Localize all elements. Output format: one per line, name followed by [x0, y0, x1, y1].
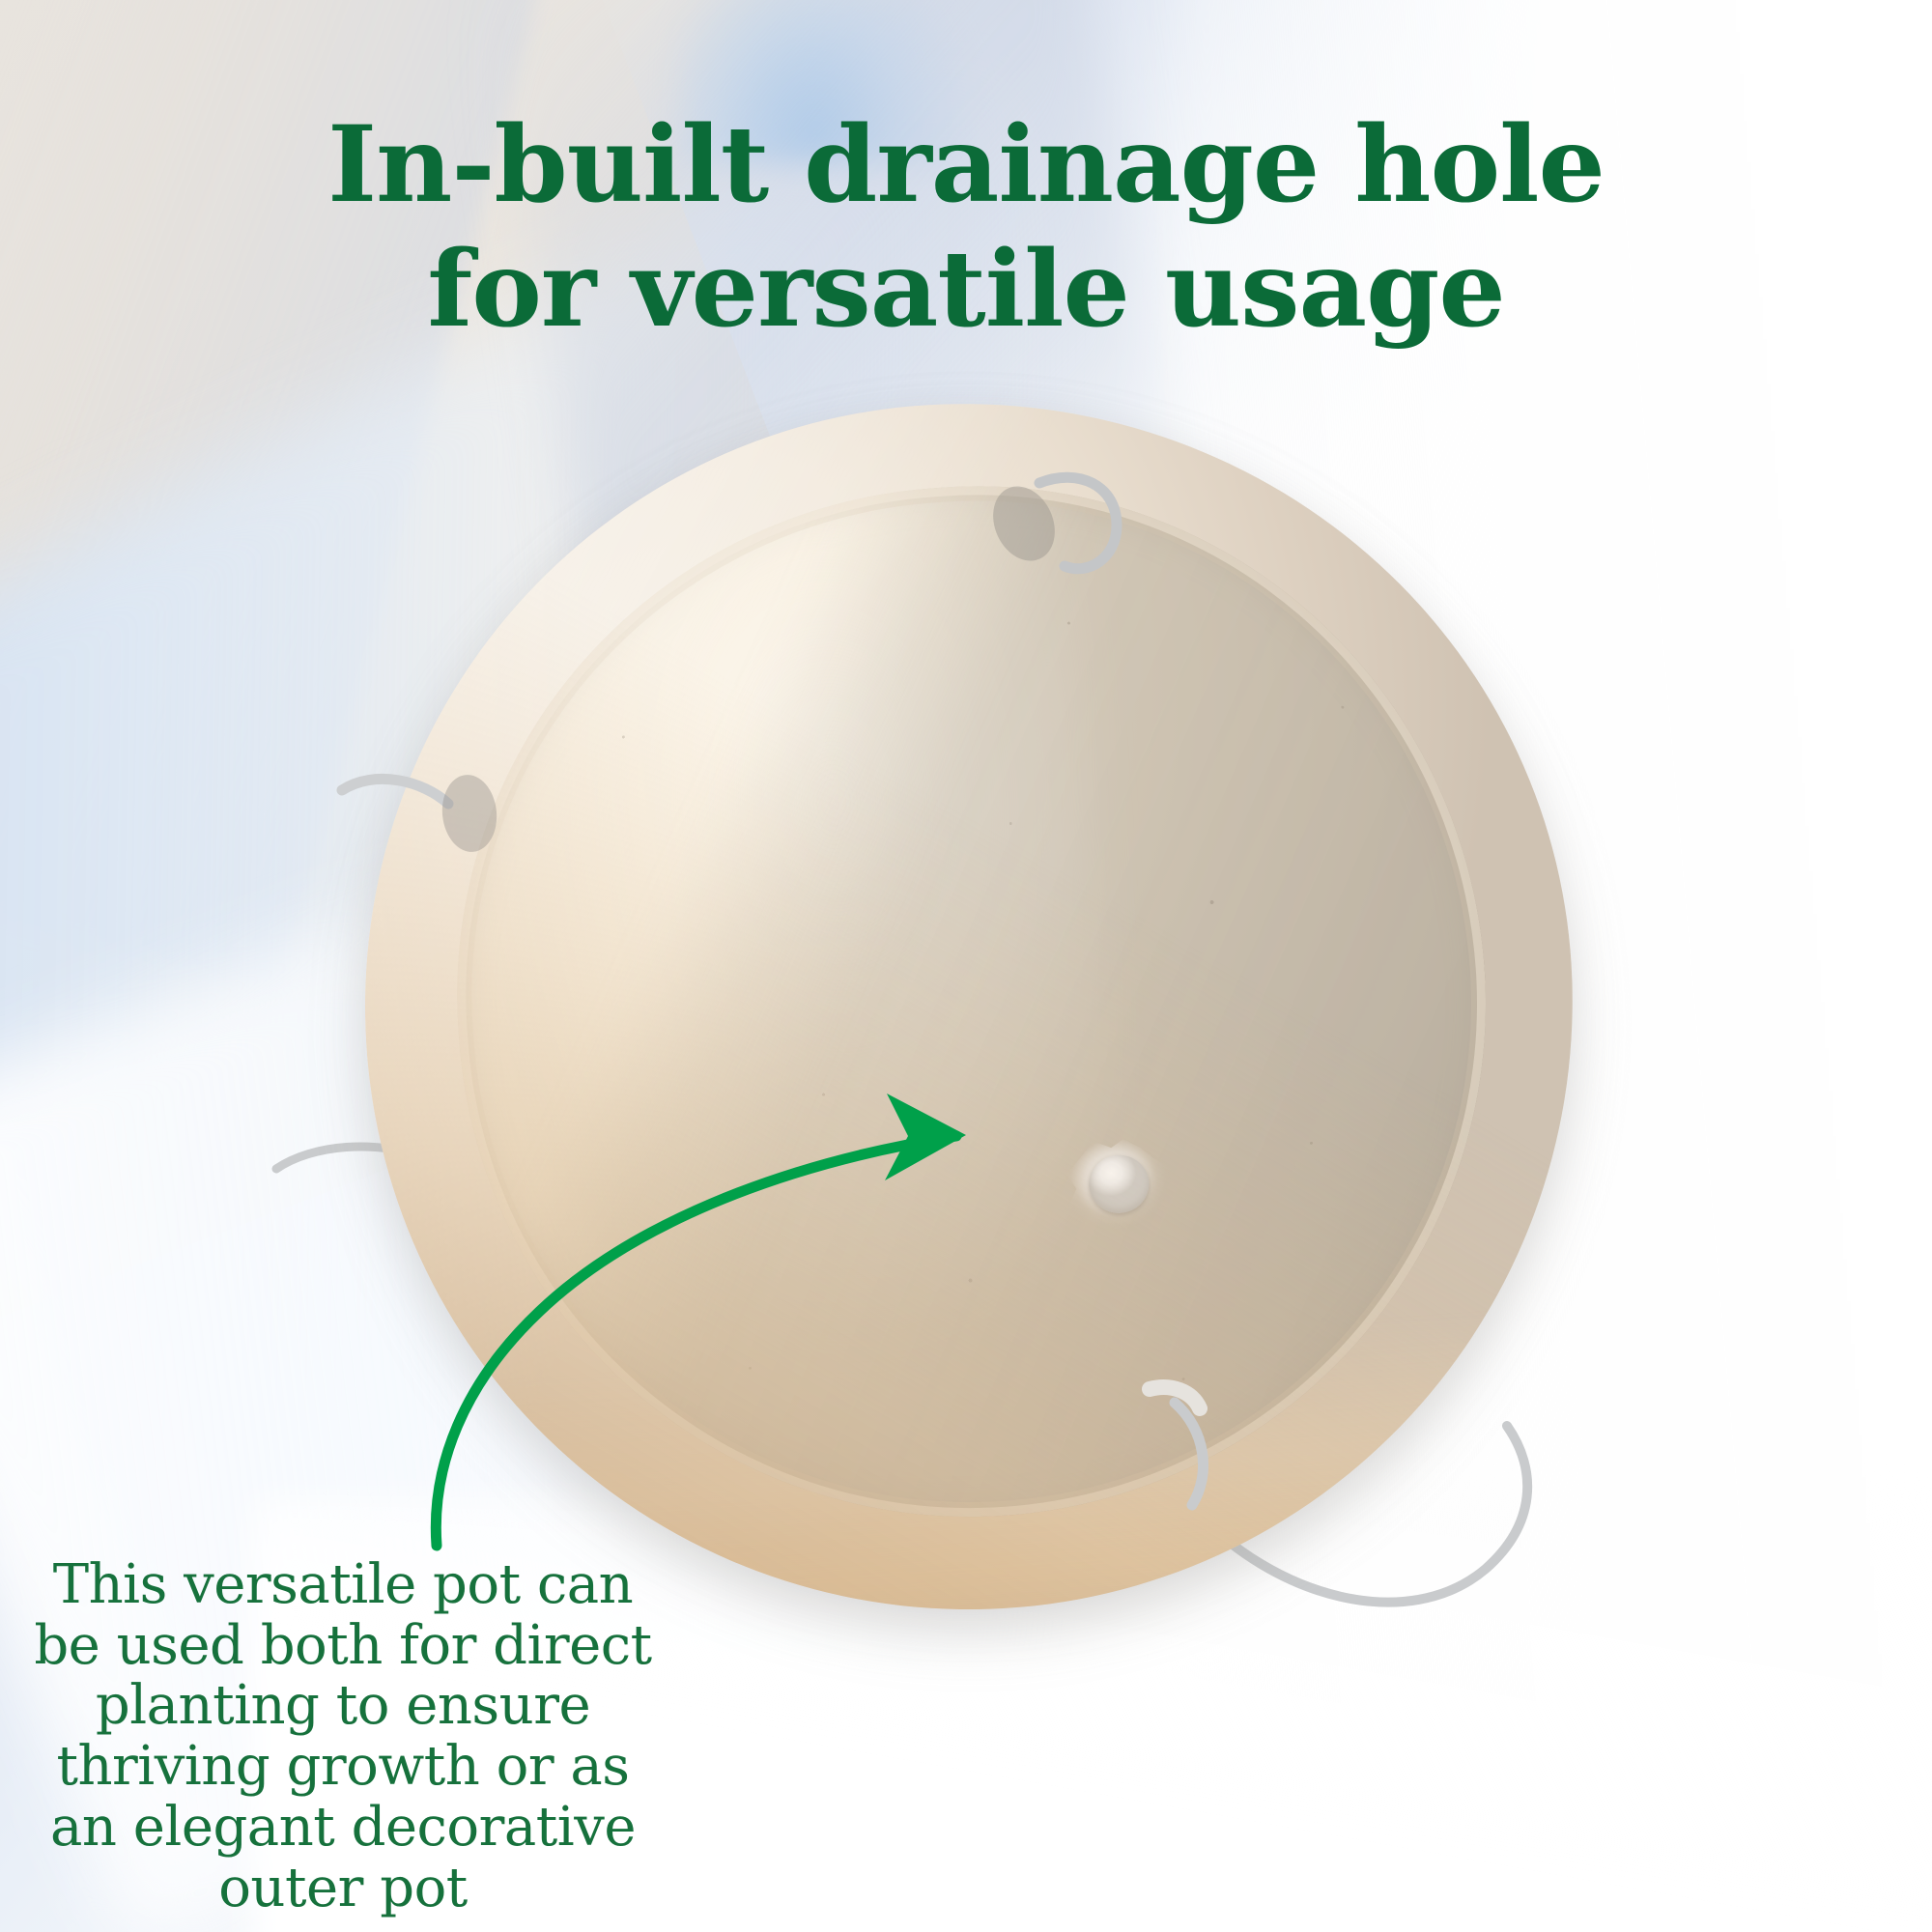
promo-image-canvas: In-built drainage hole for versatile usa… — [0, 0, 1932, 1932]
wire-hook-left-loop — [307, 740, 558, 875]
page-title-line-2: for versatile usage — [0, 227, 1932, 352]
drainage-hole — [1059, 1126, 1182, 1250]
drainage-hole-plug-ball — [1087, 1153, 1151, 1215]
wire-hook-top-right-loop — [964, 450, 1196, 624]
drainage-hole-plug-flange — [1065, 1136, 1176, 1239]
page-title-line-1: In-built drainage hole — [0, 102, 1932, 227]
annotation-arrow — [290, 1043, 1024, 1604]
page-title: In-built drainage hole for versatile usa… — [0, 102, 1932, 351]
wire-hook-bottom-right-loop — [1099, 1370, 1331, 1563]
feature-caption: This versatile pot can be used both for … — [29, 1555, 657, 1918]
